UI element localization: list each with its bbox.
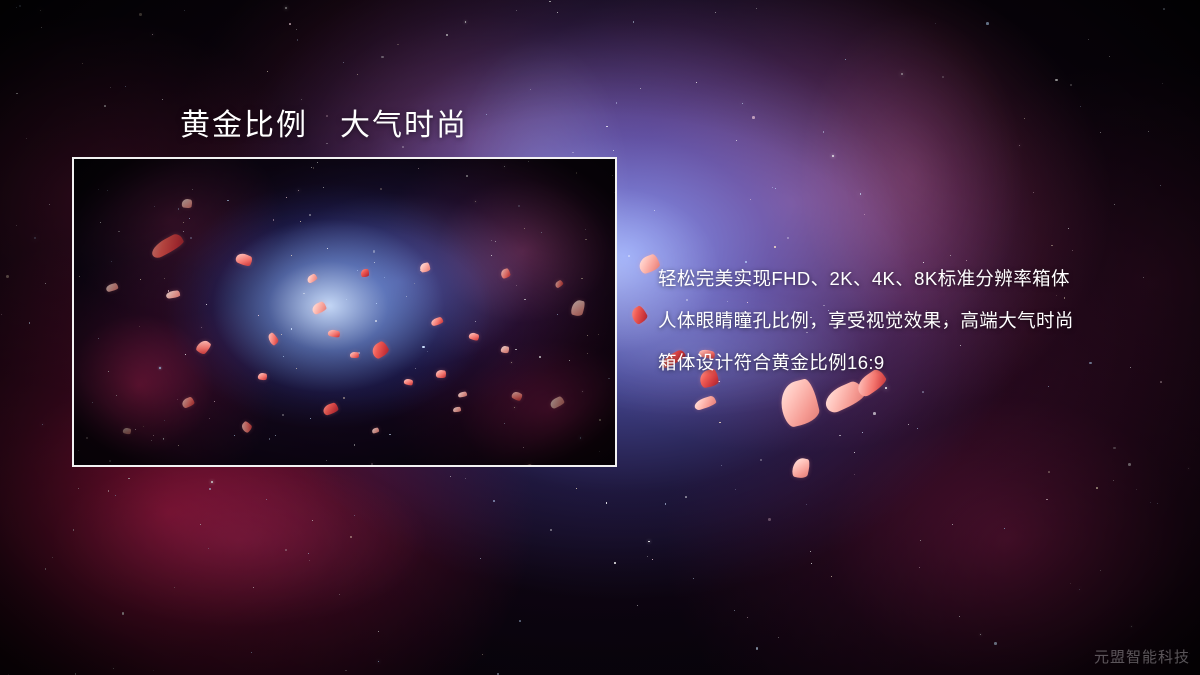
body-line-2: 人体眼睛瞳孔比例，享受视觉效果，高端大气时尚 <box>658 300 1188 342</box>
body-copy: 轻松完美实现FHD、2K、4K、8K标准分辨率箱体 人体眼睛瞳孔比例，享受视觉效… <box>658 258 1188 384</box>
watermark: 元盟智能科技 <box>1094 646 1190 667</box>
framed-image-vignette <box>74 159 615 465</box>
slide-canvas: 黄金比例 大气时尚 轻松完美实现FHD、2K、4K、8K标准分辨率箱体 人体眼睛… <box>0 0 1200 675</box>
page-title: 黄金比例 大气时尚 <box>180 100 468 144</box>
body-line-1: 轻松完美实现FHD、2K、4K、8K标准分辨率箱体 <box>658 258 1188 300</box>
framed-image <box>72 157 617 467</box>
body-line-3: 箱体设计符合黄金比例16:9 <box>658 342 1188 384</box>
